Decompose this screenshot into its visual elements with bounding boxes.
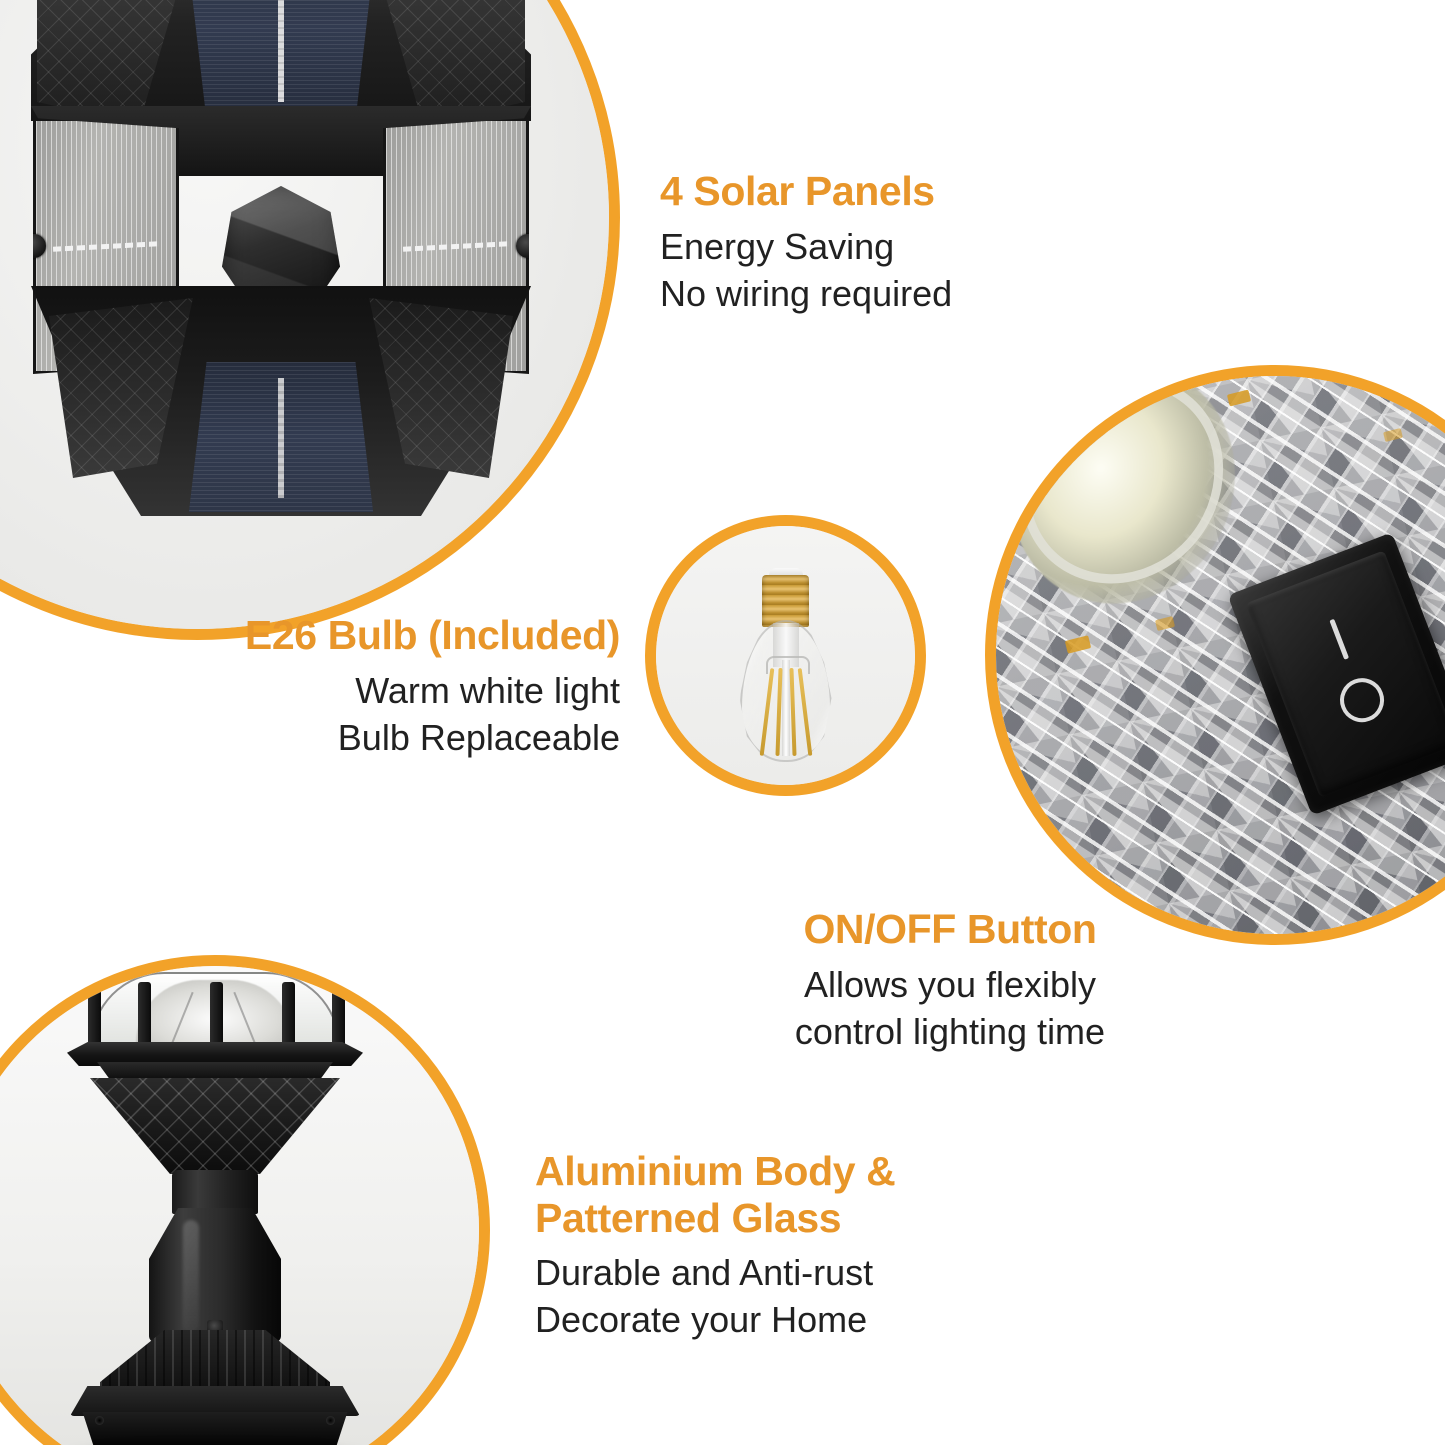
- feature-text-solar-panels: 4 Solar Panels Energy Saving No wiring r…: [660, 168, 1090, 317]
- e26-bulb-photo: [645, 515, 926, 796]
- square-base-top: [70, 1386, 360, 1416]
- busbar: [278, 378, 284, 498]
- feature-line: control lighting time: [740, 1009, 1160, 1056]
- busbar: [53, 241, 160, 252]
- column-highlight: [183, 1220, 199, 1332]
- feature-text-aluminium-body: Aluminium Body & Patterned Glass Durable…: [535, 1148, 1005, 1344]
- solar-panel-head-photo: [0, 0, 620, 640]
- patterned-glass-image: [996, 376, 1445, 934]
- feature-line: No wiring required: [660, 271, 1090, 318]
- busbar: [278, 0, 284, 102]
- feature-text-on-off-button: ON/OFF Button Allows you flexibly contro…: [740, 906, 1160, 1055]
- glass-frame-post: [282, 982, 295, 1048]
- lamp-head-body: [31, 0, 531, 506]
- glass-stem: [782, 660, 790, 756]
- feature-line: Allows you flexibly: [740, 962, 1160, 1009]
- bulb-image: [656, 526, 915, 785]
- post-light-image: [0, 966, 479, 1445]
- feature-heading-line-1: Aluminium Body &: [535, 1148, 1005, 1195]
- mounting-hole: [326, 1416, 335, 1425]
- feature-heading: ON/OFF Button: [740, 906, 1160, 953]
- octagonal-rim-lower: [84, 1062, 346, 1080]
- mounting-hole: [95, 1416, 104, 1425]
- glass-frame-post: [88, 982, 101, 1048]
- feature-line: Bulb Replaceable: [140, 715, 620, 762]
- feature-text-e26-bulb: E26 Bulb (Included) Warm white light Bul…: [140, 612, 620, 761]
- solar-panel-image: [0, 0, 609, 629]
- busbar: [403, 241, 510, 252]
- glass-frame-post: [210, 982, 223, 1048]
- feature-line: Durable and Anti-rust: [535, 1250, 1005, 1297]
- feature-line: Energy Saving: [660, 224, 1090, 271]
- glass-frame-post: [332, 982, 345, 1048]
- feature-heading: 4 Solar Panels: [660, 168, 1090, 215]
- feature-heading-line-2: Patterned Glass: [535, 1195, 1005, 1242]
- e26-screw-base: [762, 575, 809, 627]
- post-light-body-photo: [0, 955, 490, 1445]
- feature-heading: E26 Bulb (Included): [140, 612, 620, 659]
- product-feature-infographic: 4 Solar Panels Energy Saving No wiring r…: [0, 0, 1445, 1445]
- neck: [172, 1170, 258, 1214]
- on-off-rocker-switch-photo: [985, 365, 1445, 945]
- feature-line: Decorate your Home: [535, 1297, 1005, 1344]
- solar-panel-top: [183, 0, 379, 120]
- drop-shadow: [60, 1438, 370, 1445]
- glass-frame-post: [138, 982, 151, 1048]
- feature-line: Warm white light: [140, 668, 620, 715]
- solar-panel-bottom: [183, 362, 379, 512]
- led-filament-bulb: [738, 568, 834, 764]
